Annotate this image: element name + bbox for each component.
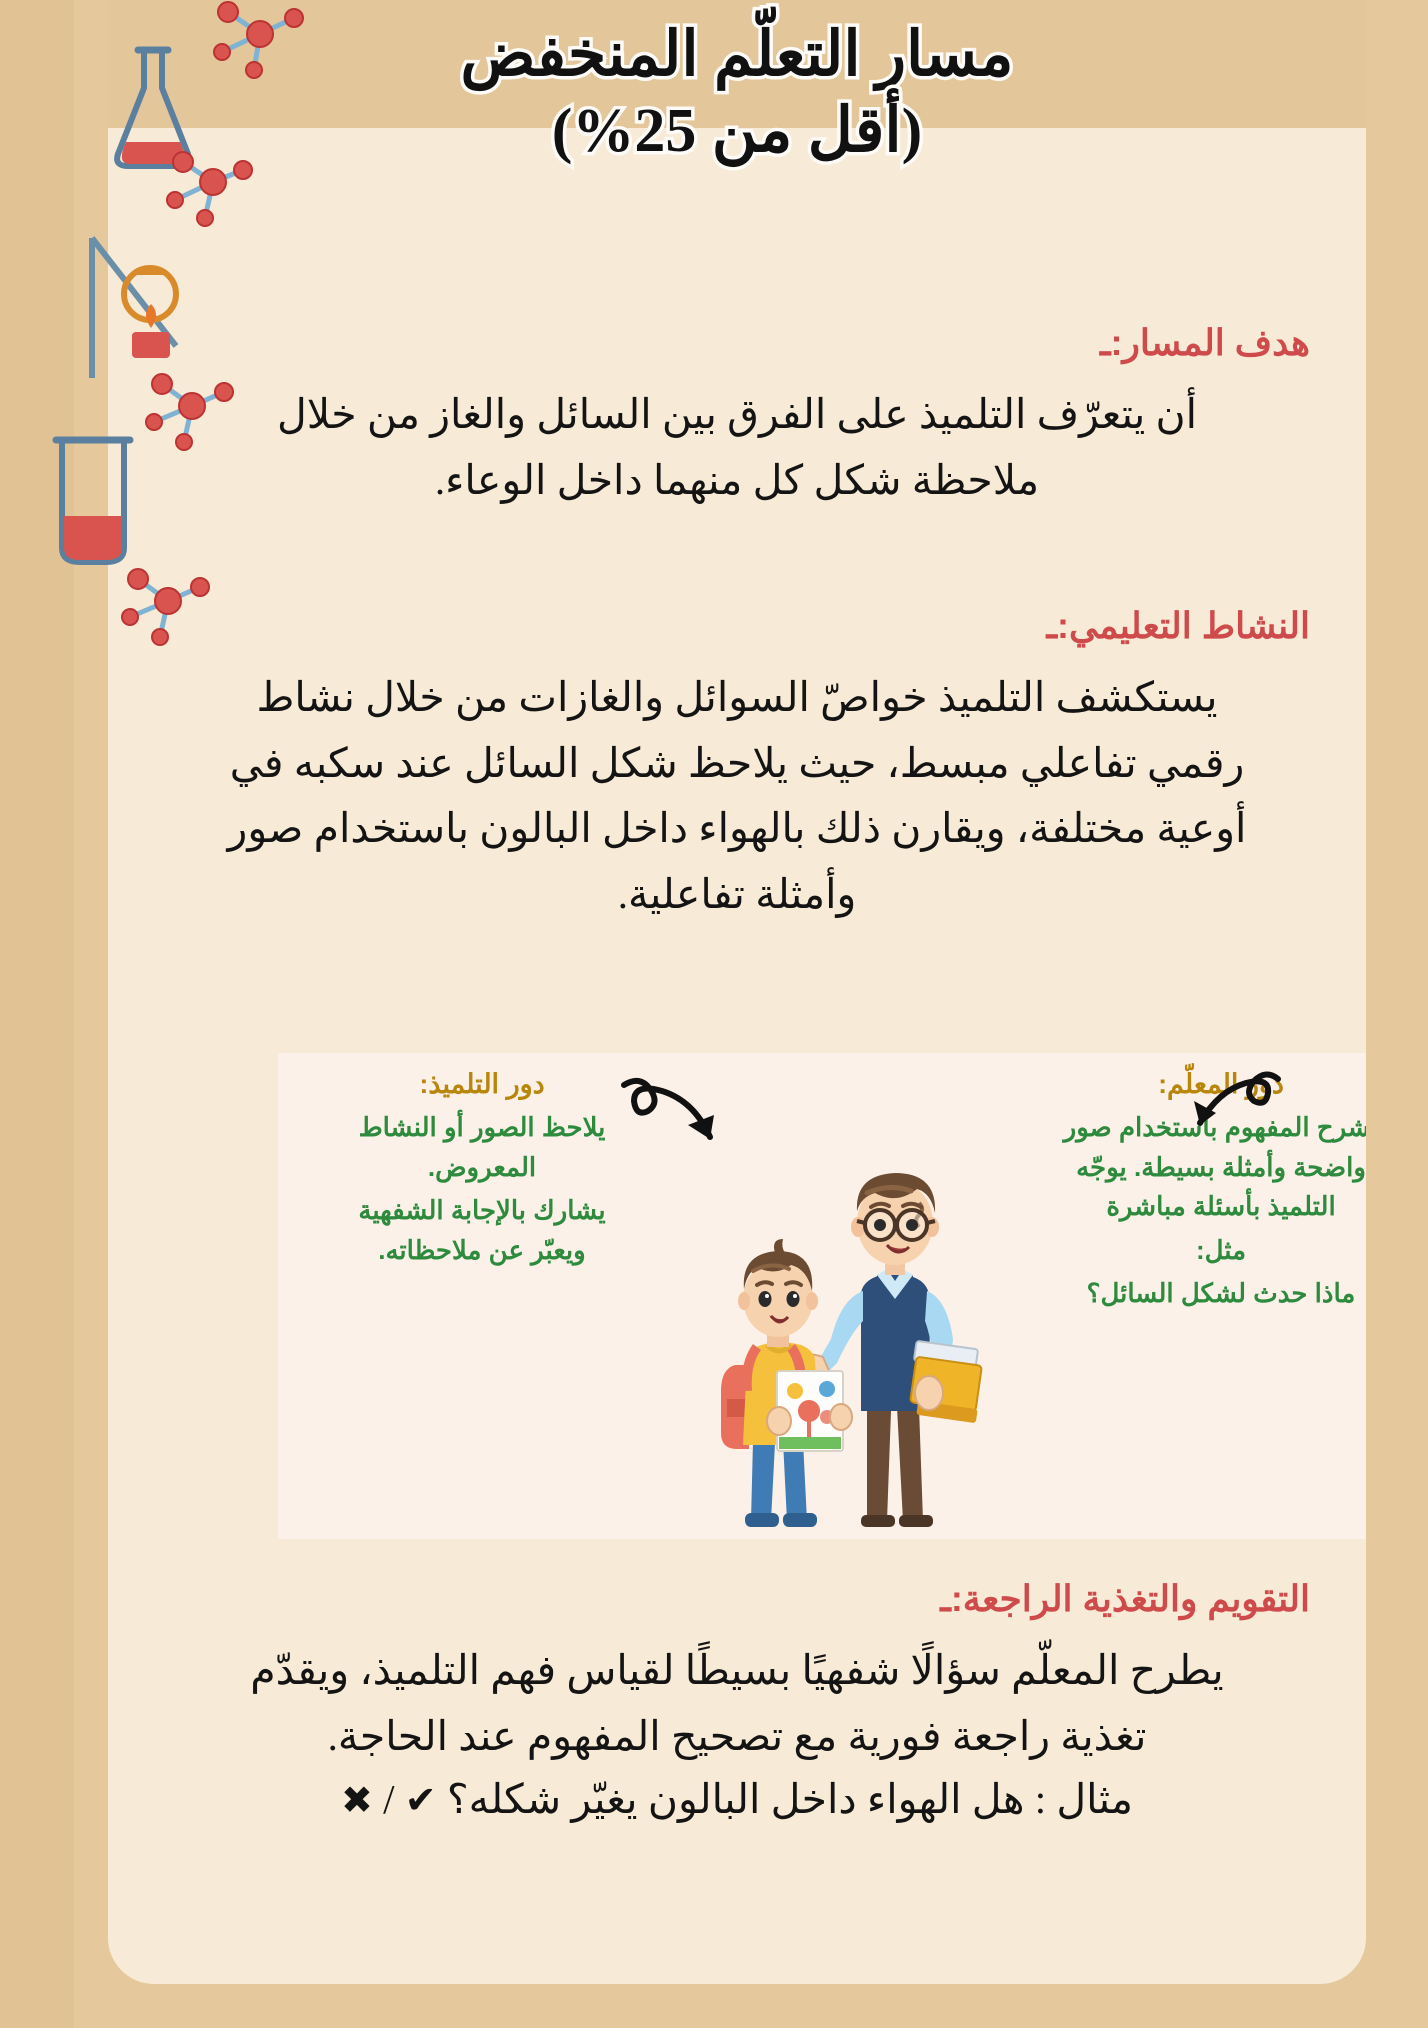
poster-card: مسار التعلّم المنخفض (أقل من 25%) هدف ال…	[108, 0, 1366, 1984]
activity-heading: النشاط التعليمي:ـ	[164, 605, 1310, 647]
activity-body: يستكشف التلميذ خواصّ السوائل والغازات من…	[164, 665, 1310, 927]
roles-card: دور المعلّم: يشرح المفهوم باستخدام صور و…	[278, 1053, 1366, 1539]
molecule-icon	[132, 360, 247, 460]
section-activity: النشاط التعليمي:ـ يستكشف التلميذ خواصّ ا…	[108, 605, 1366, 927]
mark-separator: /	[383, 1776, 394, 1822]
goal-body: أن يتعرّف التلميذ على الفرق بين السائل و…	[164, 382, 1310, 513]
assessment-body: يطرح المعلّم سؤالًا شفهيًا بسيطًا لقياس …	[164, 1638, 1310, 1769]
title-line-2: (أقل من 25%)	[108, 94, 1366, 170]
curved-arrow-icon	[1174, 1067, 1284, 1153]
characters-illustration	[691, 1149, 991, 1529]
molecule-icon	[108, 555, 223, 655]
title-line-1: مسار التعلّم المنخفض	[108, 18, 1366, 94]
student-character	[721, 1239, 852, 1527]
teacher-line-5: ماذا حدث لشكل السائل؟	[1056, 1274, 1366, 1314]
curved-arrow-icon	[618, 1075, 730, 1167]
teacher-character	[792, 1173, 982, 1527]
check-mark-icon: ✔	[405, 1778, 437, 1822]
cross-mark-icon: ✖	[341, 1778, 373, 1822]
beaker-icon	[40, 430, 145, 570]
assessment-heading: التقويم والتغذية الراجعة:ـ	[164, 1578, 1310, 1620]
student-line-1: يلاحظ الصور أو النشاط	[359, 1112, 606, 1142]
goal-heading: هدف المسار:ـ	[164, 322, 1310, 364]
section-assessment: التقويم والتغذية الراجعة:ـ يطرح المعلّم …	[108, 1578, 1366, 1823]
assessment-example: مثال : هل الهواء داخل البالون يغيّر شكله…	[164, 1775, 1310, 1823]
example-text: مثال : هل الهواء داخل البالون يغيّر شكله…	[447, 1776, 1133, 1822]
student-line-4: ويعبّر عن ملاحظاته.	[378, 1235, 585, 1265]
student-role-title: دور التلميذ:	[302, 1069, 662, 1100]
page-title: مسار التعلّم المنخفض (أقل من 25%)	[108, 18, 1366, 169]
student-line-2: المعروض.	[428, 1152, 536, 1182]
section-goal: هدف المسار:ـ أن يتعرّف التلميذ على الفرق…	[108, 322, 1366, 513]
student-role-column: دور التلميذ: يلاحظ الصور أو النشاط المعر…	[302, 1069, 662, 1270]
teacher-line-4: مثل:	[1056, 1231, 1366, 1271]
student-role-text: يلاحظ الصور أو النشاط المعروض. يشارك بال…	[302, 1108, 662, 1270]
student-line-3: يشارك بالإجابة الشفهية	[302, 1191, 662, 1231]
poster-page: مسار التعلّم المنخفض (أقل من 25%) هدف ال…	[0, 0, 1428, 2028]
